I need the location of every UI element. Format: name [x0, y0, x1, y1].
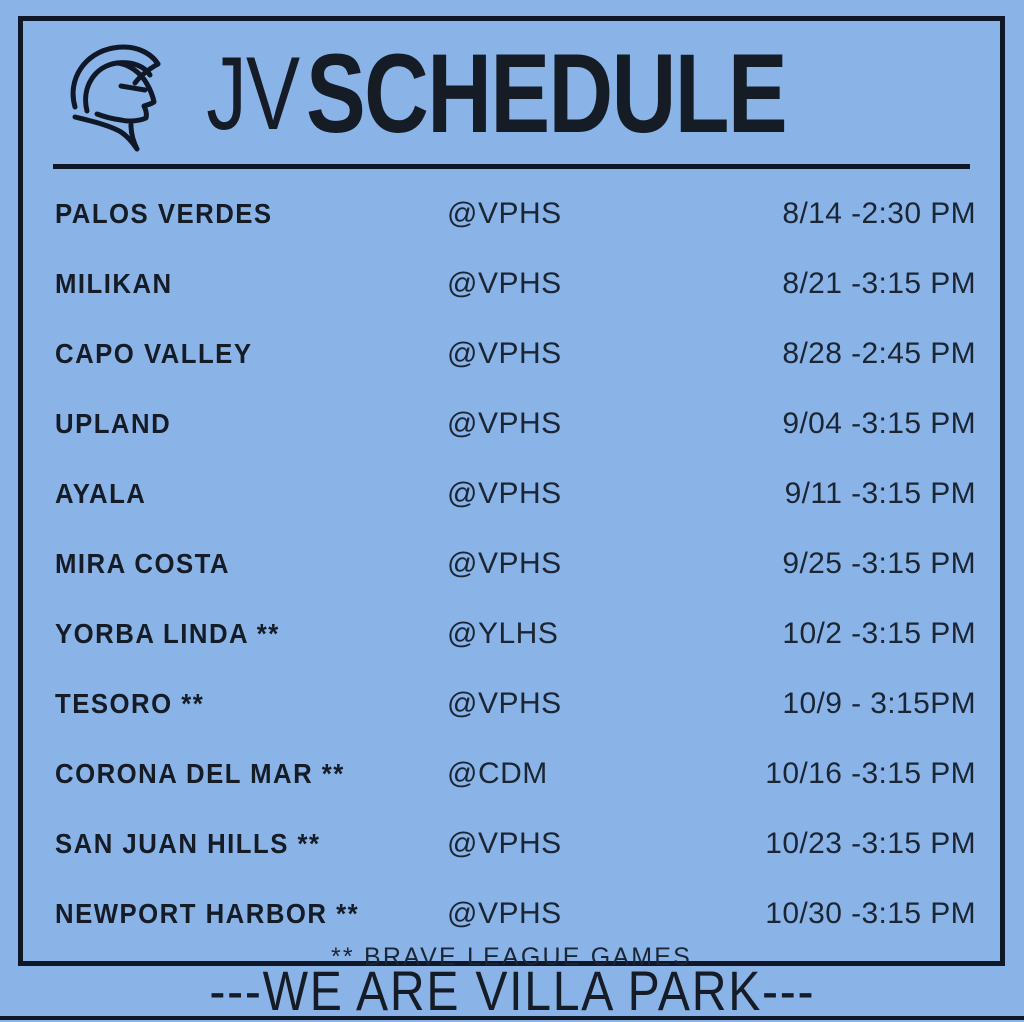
opponent-name: NEWPORT HARBOR ** [55, 898, 359, 930]
header-divider [53, 164, 970, 169]
game-venue: @YLHS [447, 617, 558, 651]
game-venue: @VPHS [447, 407, 562, 441]
opponent-name: MIRA COSTA [55, 548, 230, 580]
schedule-card: JV SCHEDULE PALOS VERDES @VPHS 8/14 -2:3… [18, 16, 1005, 966]
opponent-name: CORONA DEL MAR ** [55, 758, 345, 790]
opponent-name: AYALA [55, 478, 146, 510]
opponent-name: PALOS VERDES [55, 198, 273, 230]
table-row: CAPO VALLEY @VPHS 8/28 -2:45 PM [23, 319, 1000, 389]
game-venue: @VPHS [447, 477, 562, 511]
game-venue: @CDM [447, 757, 548, 791]
page-title: JV SCHEDULE [233, 29, 853, 159]
game-venue: @VPHS [447, 197, 562, 231]
schedule-poster: JV SCHEDULE PALOS VERDES @VPHS 8/14 -2:3… [0, 0, 1024, 1022]
game-venue: @VPHS [447, 337, 562, 371]
game-date-time: 9/04 -3:15 PM [782, 407, 976, 441]
game-date-time: 10/23 -3:15 PM [765, 827, 976, 861]
game-venue: @VPHS [447, 827, 562, 861]
game-date-time: 8/14 -2:30 PM [782, 197, 976, 231]
game-venue: @VPHS [447, 267, 562, 301]
game-venue: @VPHS [447, 687, 562, 721]
opponent-name: SAN JUAN HILLS ** [55, 828, 320, 860]
game-date-time: 10/9 - 3:15PM [782, 687, 976, 721]
game-date-time: 9/11 -3:15 PM [785, 477, 976, 511]
opponent-name: MILIKAN [55, 268, 173, 300]
opponent-name: UPLAND [55, 408, 171, 440]
table-row: MIRA COSTA @VPHS 9/25 -3:15 PM [23, 529, 1000, 599]
table-row: MILIKAN @VPHS 8/21 -3:15 PM [23, 249, 1000, 319]
table-row: CORONA DEL MAR ** @CDM 10/16 -3:15 PM [23, 739, 1000, 809]
school-slogan-text: ---WE ARE VILLA PARK--- [209, 963, 815, 1019]
game-date-time: 9/25 -3:15 PM [782, 547, 976, 581]
table-row: AYALA @VPHS 9/11 -3:15 PM [23, 459, 1000, 529]
opponent-name: CAPO VALLEY [55, 338, 252, 370]
table-row: YORBA LINDA ** @YLHS 10/2 -3:15 PM [23, 599, 1000, 669]
title-prefix: JV [207, 42, 300, 146]
table-row: SAN JUAN HILLS ** @VPHS 10/23 -3:15 PM [23, 809, 1000, 879]
game-date-time: 10/16 -3:15 PM [765, 757, 976, 791]
game-date-time: 10/2 -3:15 PM [782, 617, 976, 651]
game-date-time: 10/30 -3:15 PM [765, 897, 976, 931]
opponent-name: YORBA LINDA ** [55, 618, 280, 650]
opponent-name: TESORO ** [55, 688, 204, 720]
game-date-time: 8/21 -3:15 PM [782, 267, 976, 301]
schedule-list: PALOS VERDES @VPHS 8/14 -2:30 PM MILIKAN… [23, 179, 1000, 949]
game-date-time: 8/28 -2:45 PM [782, 337, 976, 371]
table-row: PALOS VERDES @VPHS 8/14 -2:30 PM [23, 179, 1000, 249]
table-row: TESORO ** @VPHS 10/9 - 3:15PM [23, 669, 1000, 739]
bottom-edge-rule [0, 1016, 1024, 1020]
game-venue: @VPHS [447, 897, 562, 931]
school-slogan-banner: ---WE ARE VILLA PARK--- [0, 965, 1024, 1017]
table-row: UPLAND @VPHS 9/04 -3:15 PM [23, 389, 1000, 459]
title-main: SCHEDULE [306, 38, 786, 150]
spartan-helmet-icon [61, 33, 181, 153]
poster-header: JV SCHEDULE [23, 21, 1000, 161]
table-row: NEWPORT HARBOR ** @VPHS 10/30 -3:15 PM [23, 879, 1000, 949]
game-venue: @VPHS [447, 547, 562, 581]
